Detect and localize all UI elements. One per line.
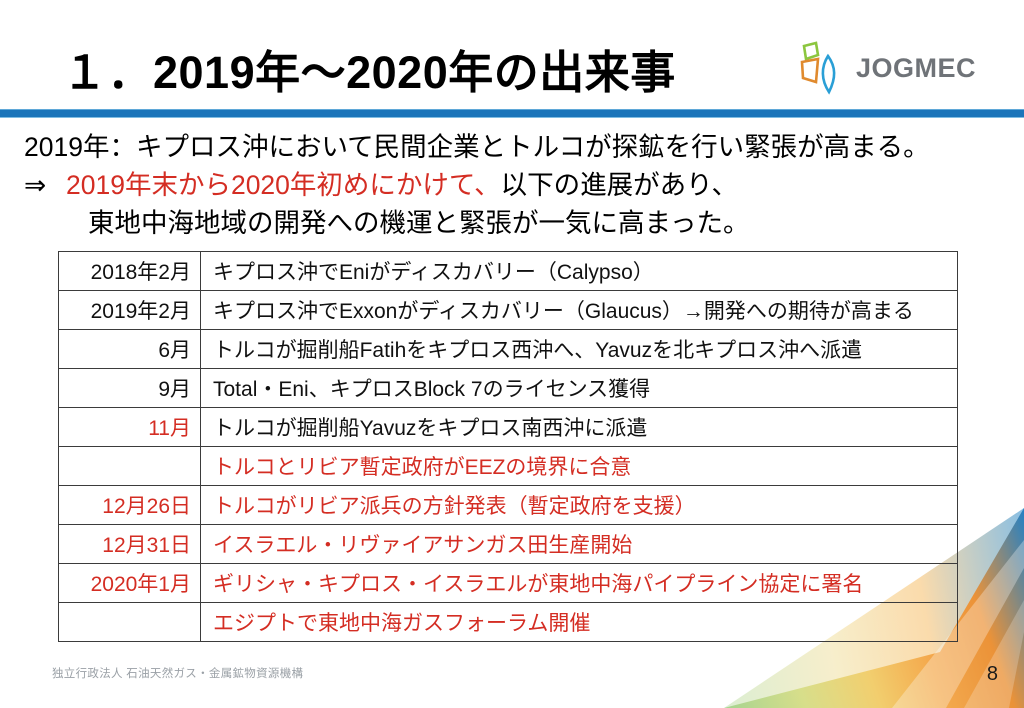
table-row: 12月26日トルコがリビア派兵の方針発表（暫定政府を支援）	[59, 486, 958, 525]
lede-line-3: 東地中海地域の開発への機運と緊張が一気に高まった。	[24, 204, 1009, 242]
table-cell-date: 2019年2月	[59, 291, 201, 330]
table-row: 11月トルコが掘削船Yavuzをキプロス南西沖に派遣	[59, 408, 958, 447]
table-row: トルコとリビア暫定政府がEEZの境界に合意	[59, 447, 958, 486]
slide-canvas: １．2019年～2020年の出来事 JOGMEC 2019年：キプロス沖において…	[0, 0, 1024, 708]
table-cell-date: 12月31日	[59, 525, 201, 564]
table-cell-event: ギリシャ・キプロス・イスラエルが東地中海パイプライン協定に署名	[201, 564, 958, 603]
page-number: 8	[987, 663, 998, 686]
table-cell-date: 11月	[59, 408, 201, 447]
table-cell-event: トルコとリビア暫定政府がEEZの境界に合意	[201, 447, 958, 486]
footer-organization: 独立行政法人 石油天然ガス・金属鉱物資源機構	[52, 665, 303, 681]
table-cell-event: イスラエル・リヴァイアサンガス田生産開始	[201, 525, 958, 564]
table-cell-event: トルコが掘削船Fatihをキプロス西沖へ、Yavuzを北キプロス沖へ派遣	[201, 330, 958, 369]
events-table: 2018年2月キプロス沖でEniがディスカバリー（Calypso）2019年2月…	[58, 251, 958, 642]
table-cell-event: トルコがリビア派兵の方針発表（暫定政府を支援）	[201, 486, 958, 525]
table-row: 9月Total・Eni、キプロスBlock 7のライセンス獲得	[59, 369, 958, 408]
table-row: 2019年2月キプロス沖でExxonがディスカバリー（Glaucus）→開発への…	[59, 291, 958, 330]
lede-line-2-black: 以下の進展があり、	[501, 166, 738, 204]
title-divider-rule	[0, 109, 1024, 118]
table-row: 2018年2月キプロス沖でEniがディスカバリー（Calypso）	[59, 252, 958, 291]
page-title: １．2019年～2020年の出来事	[62, 36, 676, 101]
table-cell-date: 2018年2月	[59, 252, 201, 291]
table-cell-event: エジプトで東地中海ガスフォーラム開催	[201, 603, 958, 642]
events-table-body: 2018年2月キプロス沖でEniがディスカバリー（Calypso）2019年2月…	[59, 252, 958, 642]
table-cell-date: 2020年1月	[59, 564, 201, 603]
jogmec-logo-text: JOGMEC	[856, 53, 976, 84]
table-cell-date	[59, 447, 201, 486]
lede-line-2-red: 2019年末から2020年初めにかけて、	[66, 166, 501, 204]
table-cell-date: 6月	[59, 330, 201, 369]
table-cell-event: キプロス沖でEniがディスカバリー（Calypso）	[201, 252, 958, 291]
lede-line-2: ⇒ 2019年末から2020年初めにかけて、 以下の進展があり、	[24, 166, 1009, 204]
jogmec-diamond-mark-icon	[796, 40, 846, 96]
table-cell-date: 9月	[59, 369, 201, 408]
table-row: 6月トルコが掘削船Fatihをキプロス西沖へ、Yavuzを北キプロス沖へ派遣	[59, 330, 958, 369]
table-row: エジプトで東地中海ガスフォーラム開催	[59, 603, 958, 642]
table-cell-event: トルコが掘削船Yavuzをキプロス南西沖に派遣	[201, 408, 958, 447]
jogmec-logo: JOGMEC	[796, 40, 976, 96]
arrow-icon: ⇒	[24, 166, 66, 204]
table-row: 12月31日イスラエル・リヴァイアサンガス田生産開始	[59, 525, 958, 564]
table-cell-date	[59, 603, 201, 642]
lede-line-1: 2019年：キプロス沖において民間企業とトルコが探鉱を行い緊張が高まる。	[24, 128, 1009, 166]
table-row: 2020年1月ギリシャ・キプロス・イスラエルが東地中海パイプライン協定に署名	[59, 564, 958, 603]
table-cell-date: 12月26日	[59, 486, 201, 525]
lede-paragraph: 2019年：キプロス沖において民間企業とトルコが探鉱を行い緊張が高まる。 ⇒ 2…	[24, 128, 1009, 242]
table-cell-event: キプロス沖でExxonがディスカバリー（Glaucus）→開発への期待が高まる	[201, 291, 958, 330]
table-cell-event: Total・Eni、キプロスBlock 7のライセンス獲得	[201, 369, 958, 408]
